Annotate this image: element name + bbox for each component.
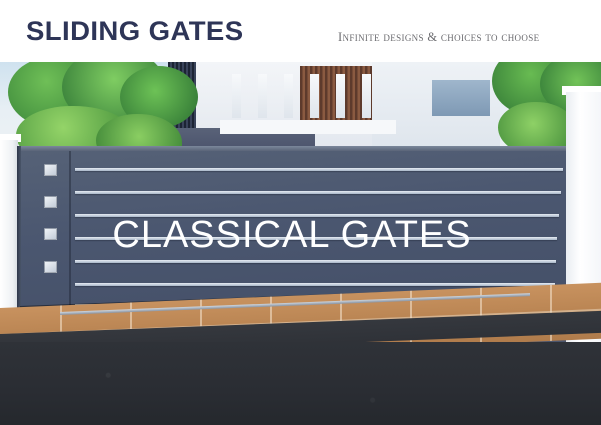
gate-slat — [75, 191, 561, 194]
slide-page: SLIDING GATES Infinite designs & choices… — [0, 0, 601, 425]
facade-fin — [284, 74, 293, 118]
page-title: SLIDING GATES — [26, 18, 243, 45]
header-tagline: Infinite designs & choices to choose — [338, 30, 539, 45]
decorative-square — [44, 164, 57, 176]
facade-fin — [258, 74, 267, 118]
facade-fin — [362, 74, 371, 118]
decorative-square — [44, 196, 57, 208]
building-window-panel — [432, 80, 490, 116]
hero-overlay-label: CLASSICAL GATES — [17, 216, 567, 254]
decorative-square — [44, 261, 57, 273]
gate-slat — [75, 260, 556, 263]
hero-photo: CLASSICAL GATES CL-SL-2014 Horizontal 20… — [0, 62, 601, 425]
building-band — [220, 120, 396, 134]
gate-top-rail — [17, 146, 567, 151]
facade-fin — [232, 74, 241, 118]
page-header: SLIDING GATES Infinite designs & choices… — [0, 0, 601, 62]
facade-fin — [336, 74, 345, 118]
asphalt-road — [0, 342, 601, 425]
facade-fin — [310, 74, 319, 118]
gate-slat — [75, 283, 555, 286]
gate-slat — [75, 168, 563, 171]
